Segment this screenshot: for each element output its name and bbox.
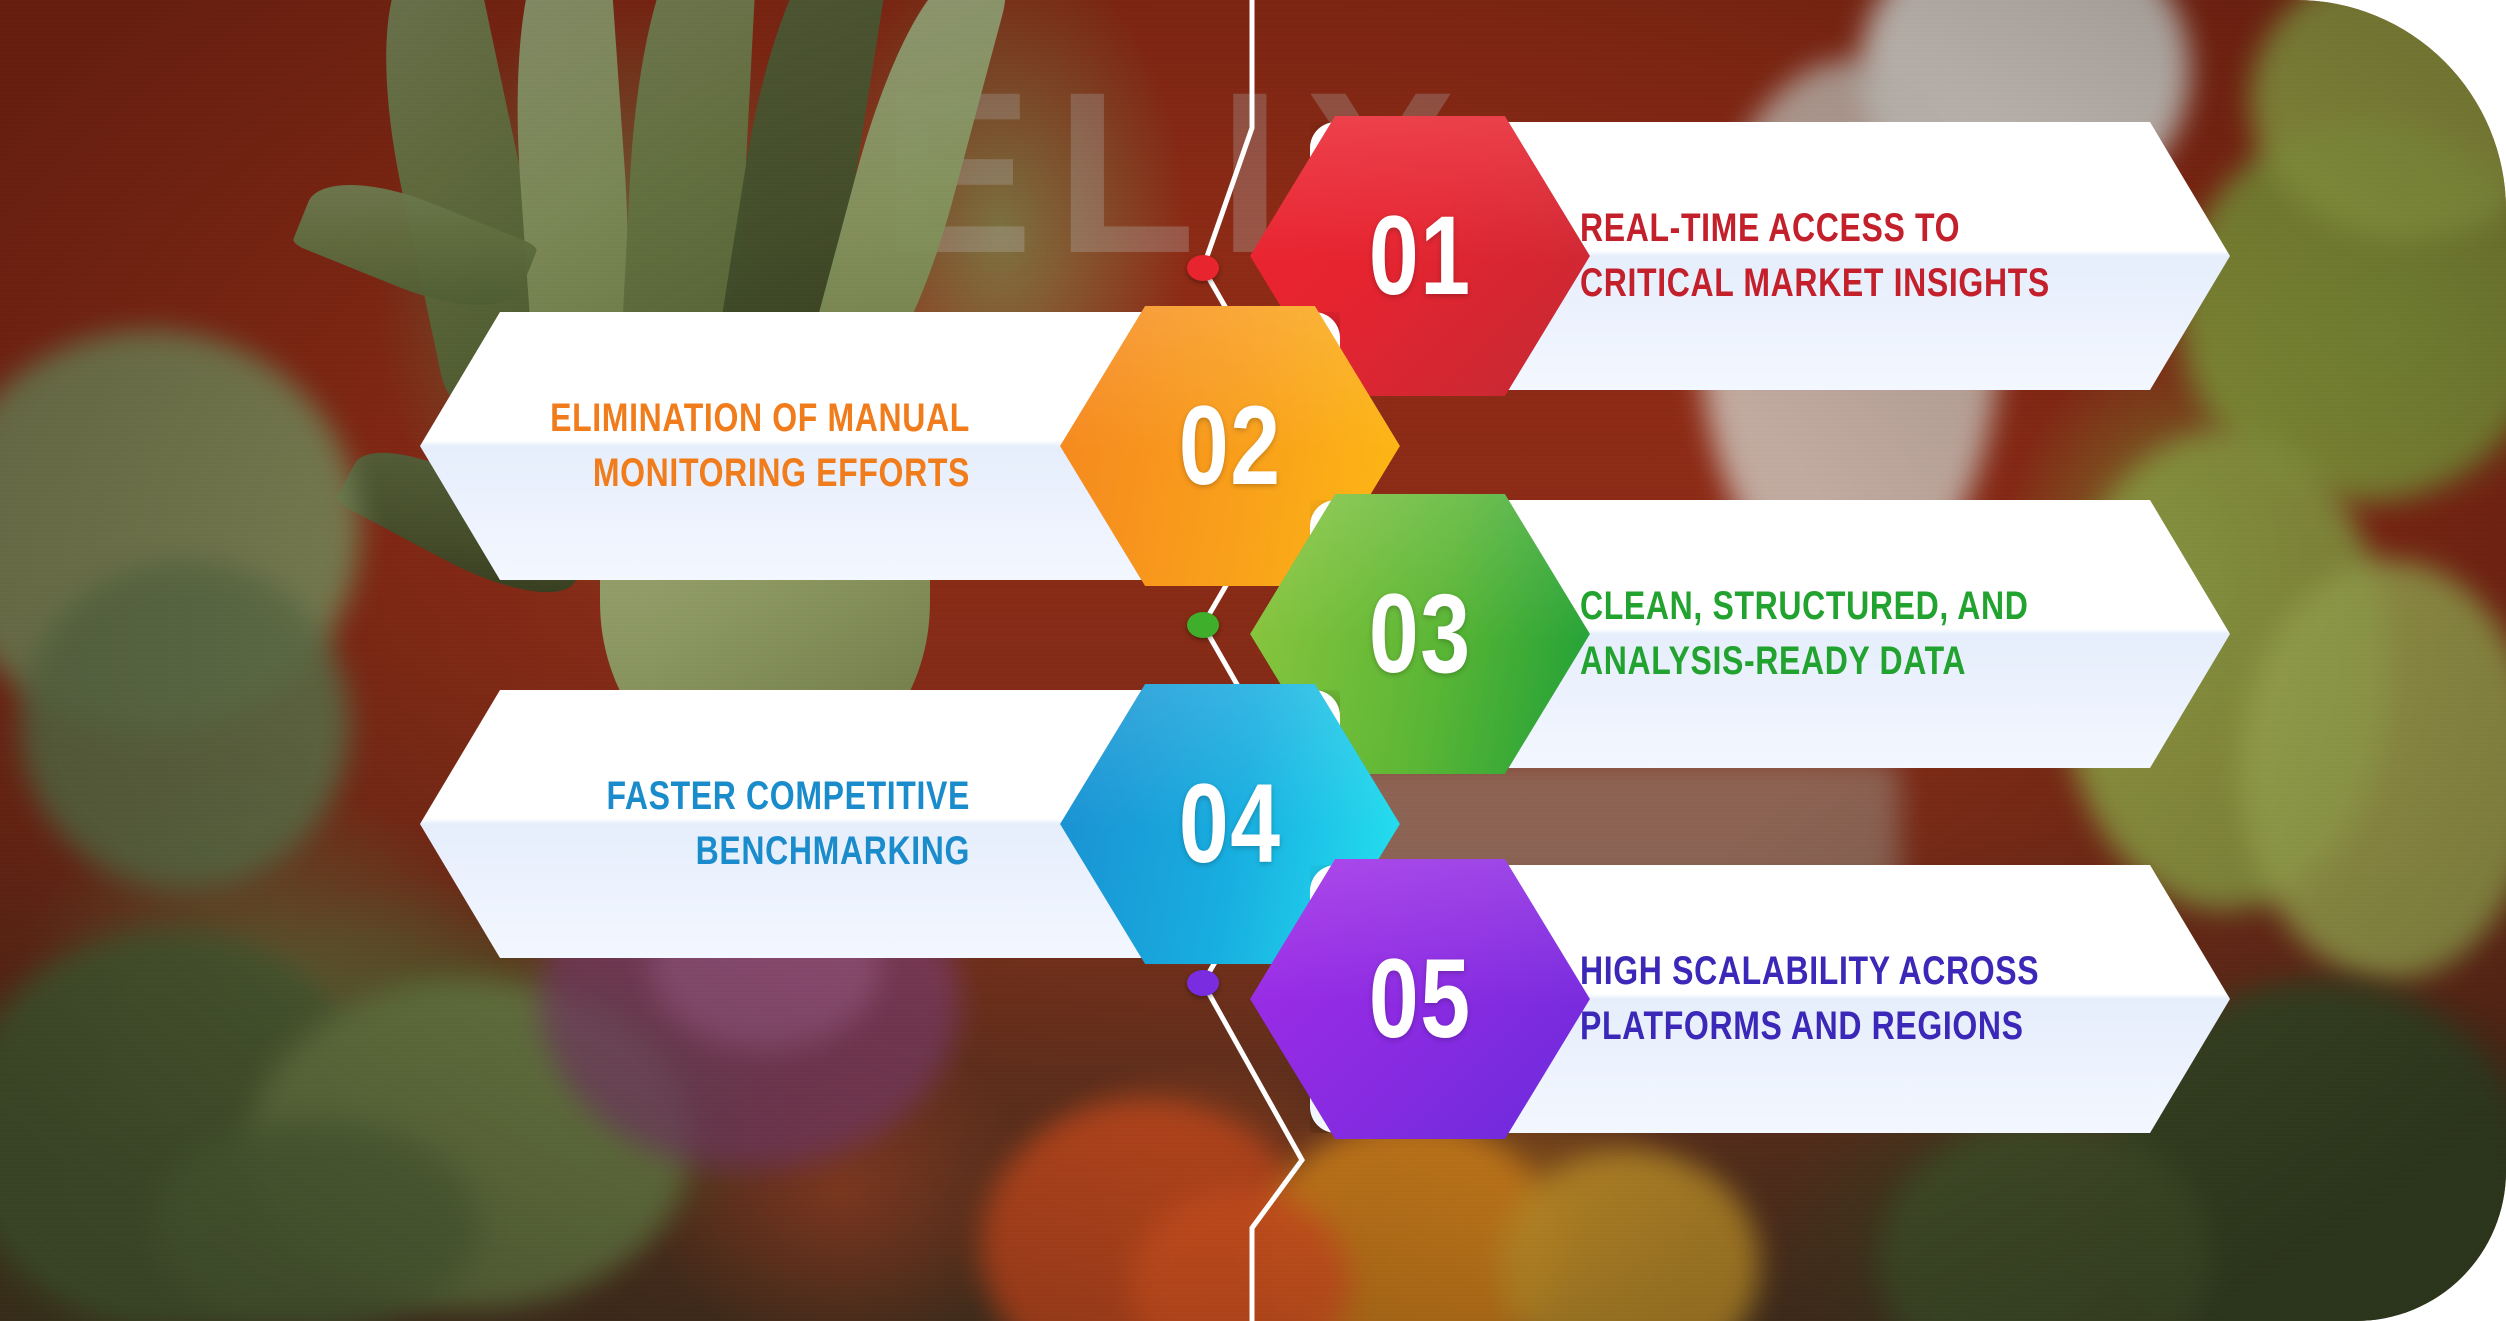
step-item-05[interactable]: HIGH SCALABILITY ACROSS PLATFORMS AND RE… <box>1250 865 2230 1133</box>
step-text-02: ELIMINATION OF MANUAL MONITORING EFFORTS <box>346 312 970 580</box>
step-number-04: 04 <box>1179 768 1282 880</box>
step-number-03: 03 <box>1369 578 1472 690</box>
step-text-05: HIGH SCALABILITY ACROSS PLATFORMS AND RE… <box>1580 865 2204 1133</box>
step-text-line: BENCHMARKING <box>346 824 970 879</box>
step-text-03: CLEAN, STRUCTURED, AND ANALYSIS-READY DA… <box>1580 500 2204 768</box>
connector-dot-03 <box>1187 612 1219 638</box>
step-text-line: FASTER COMPETITIVE <box>346 769 970 824</box>
step-number-05: 05 <box>1369 943 1472 1055</box>
connector-dot-05 <box>1187 970 1219 996</box>
step-text-line: HIGH SCALABILITY ACROSS <box>1580 944 2204 999</box>
step-text-line: ELIMINATION OF MANUAL <box>346 391 970 446</box>
connector-dot-01 <box>1187 255 1219 281</box>
step-text-line: ANALYSIS-READY DATA <box>1580 634 2204 689</box>
step-text-line: MONITORING EFFORTS <box>346 446 970 501</box>
step-text-line: REAL-TIME ACCESS TO <box>1580 201 2204 256</box>
step-text-line: CLEAN, STRUCTURED, AND <box>1580 579 2204 634</box>
step-text-04: FASTER COMPETITIVE BENCHMARKING <box>346 690 970 958</box>
infographic-canvas: ELIX <box>0 0 2506 1321</box>
step-number-01: 01 <box>1369 200 1472 312</box>
step-number-02: 02 <box>1179 390 1282 502</box>
step-text-line: CRITICAL MARKET INSIGHTS <box>1580 256 2204 311</box>
step-text-line: PLATFORMS AND REGIONS <box>1580 999 2204 1054</box>
step-text-01: REAL-TIME ACCESS TO CRITICAL MARKET INSI… <box>1580 122 2204 390</box>
